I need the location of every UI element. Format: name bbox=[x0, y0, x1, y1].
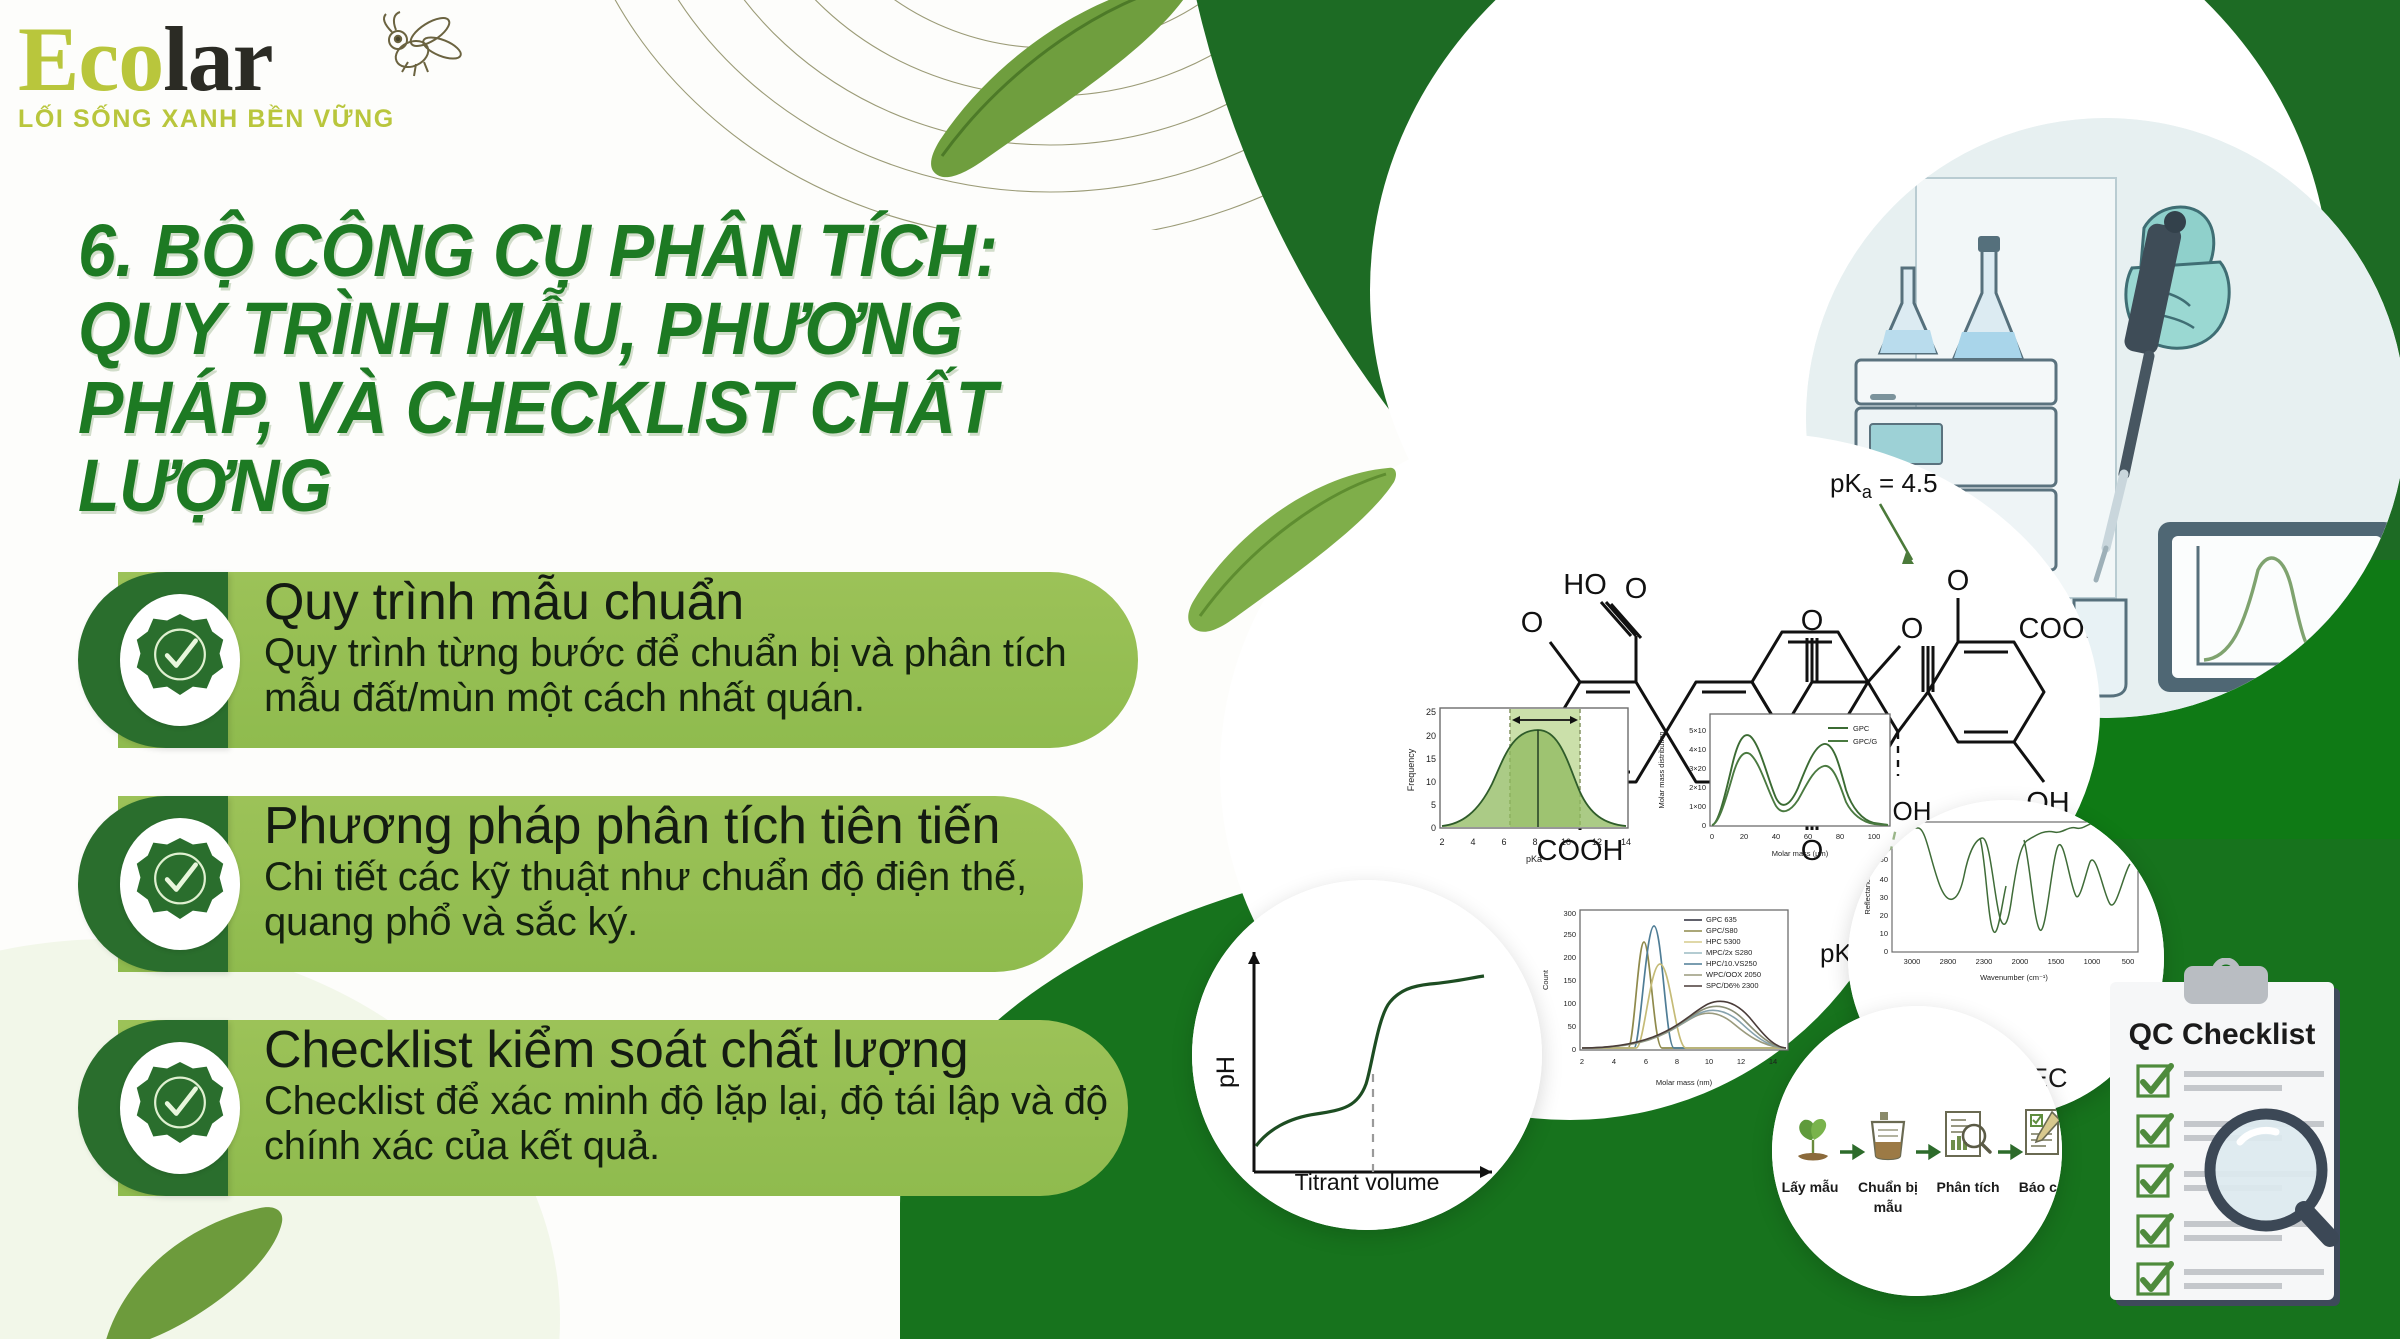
check-seal-icon bbox=[134, 610, 226, 710]
svg-text:20: 20 bbox=[1880, 911, 1888, 920]
card-badge-ring bbox=[120, 1042, 240, 1174]
svg-text:MPC/2x S280: MPC/2x S280 bbox=[1706, 948, 1752, 957]
feature-card[interactable]: Checklist kiểm soát chất lượng Checklist… bbox=[78, 1020, 1228, 1210]
svg-text:8: 8 bbox=[1532, 837, 1537, 847]
feature-card[interactable]: Quy trình mẫu chuẩn Quy trình từng bước … bbox=[78, 572, 1228, 762]
svg-text:12: 12 bbox=[1592, 837, 1602, 847]
card-description: Quy trình từng bước để chuẩn bị và phân … bbox=[264, 631, 1144, 721]
infographic-canvas: Ecolar LỐI SỐNG XANH BỀN VỮNG 6. BỘ CÔNG… bbox=[0, 0, 2400, 1339]
count-vs-molar-mass-chart: 050100 150200250300 246 8101214 Molar ma… bbox=[1534, 902, 1834, 1110]
svg-text:250: 250 bbox=[1563, 930, 1576, 939]
page-title: 6. BỘ CÔNG CỤ PHÂN TÍCH: QUY TRÌNH MẪU, … bbox=[78, 212, 1118, 526]
leaf-decor-top bbox=[880, 0, 1200, 190]
svg-text:2×10: 2×10 bbox=[1689, 783, 1706, 792]
card-title: Checklist kiểm soát chất lượng bbox=[264, 1024, 1144, 1077]
svg-text:10: 10 bbox=[1561, 837, 1571, 847]
svg-text:200: 200 bbox=[1563, 953, 1576, 962]
svg-text:HO: HO bbox=[1563, 569, 1607, 601]
qc-checklist-clipboard: QC Checklist bbox=[2098, 958, 2366, 1318]
svg-text:0: 0 bbox=[1710, 832, 1714, 841]
svg-text:Molar mass distribution: Molar mass distribution bbox=[1657, 731, 1666, 808]
svg-text:GPC 635: GPC 635 bbox=[1706, 915, 1737, 924]
logo-word-eco: Eco bbox=[18, 8, 163, 110]
svg-text:2: 2 bbox=[1580, 1057, 1584, 1066]
card-description: Chi tiết các kỹ thuật như chuẩn độ điện … bbox=[264, 855, 1144, 945]
svg-text:2: 2 bbox=[1439, 837, 1444, 847]
feature-card[interactable]: Phương pháp phân tích tiên tiến Chi tiết… bbox=[78, 796, 1228, 986]
svg-text:WPC/OOX 2050: WPC/OOX 2050 bbox=[1706, 970, 1761, 979]
svg-text:10: 10 bbox=[1426, 777, 1436, 787]
svg-text:Frequency: Frequency bbox=[1406, 748, 1416, 791]
svg-text:1×00: 1×00 bbox=[1689, 802, 1706, 811]
svg-text:30: 30 bbox=[1880, 893, 1888, 902]
svg-text:O: O bbox=[1521, 607, 1544, 639]
titration-x-axis-label: Titrant volume bbox=[1192, 1169, 1542, 1196]
svg-text:3000: 3000 bbox=[1904, 957, 1921, 966]
check-seal-icon bbox=[134, 834, 226, 934]
svg-text:100: 100 bbox=[1563, 999, 1576, 1008]
svg-text:Reflectance (%): Reflectance (%) bbox=[1863, 861, 1872, 915]
svg-text:15: 15 bbox=[1426, 754, 1436, 764]
svg-text:120: 120 bbox=[1875, 821, 1888, 830]
svg-text:14: 14 bbox=[1621, 837, 1631, 847]
svg-text:Molar mass (nm): Molar mass (nm) bbox=[1656, 1078, 1713, 1087]
svg-text:10: 10 bbox=[1705, 1057, 1713, 1066]
svg-text:SPC/D6% 2300: SPC/D6% 2300 bbox=[1706, 981, 1759, 990]
svg-text:pH: pH bbox=[1212, 1056, 1240, 1088]
svg-text:40: 40 bbox=[1880, 875, 1888, 884]
svg-text:5: 5 bbox=[1431, 800, 1436, 810]
svg-text:0: 0 bbox=[1702, 821, 1706, 830]
svg-text:O: O bbox=[1947, 565, 1970, 597]
svg-text:40: 40 bbox=[1772, 832, 1780, 841]
svg-text:80: 80 bbox=[1836, 832, 1844, 841]
svg-text:HPC/10.VS250: HPC/10.VS250 bbox=[1706, 959, 1757, 968]
svg-text:pKa: pKa bbox=[1526, 854, 1542, 864]
svg-text:4: 4 bbox=[1470, 837, 1475, 847]
svg-text:QC Checklist: QC Checklist bbox=[2129, 1018, 2316, 1051]
svg-text:50: 50 bbox=[1568, 1022, 1576, 1031]
svg-text:300: 300 bbox=[1563, 909, 1576, 918]
svg-text:O: O bbox=[1901, 613, 1924, 645]
card-badge-ring bbox=[120, 818, 240, 950]
svg-text:Chuẩn bị: Chuẩn bị bbox=[1858, 1179, 1918, 1195]
card-text-block: Quy trình mẫu chuẩn Quy trình từng bước … bbox=[264, 572, 1144, 721]
card-badge-ring bbox=[120, 594, 240, 726]
card-title: Quy trình mẫu chuẩn bbox=[264, 576, 1144, 629]
svg-text:2000: 2000 bbox=[2012, 957, 2029, 966]
bee-icon bbox=[370, 2, 480, 92]
svg-text:2300: 2300 bbox=[1976, 957, 1993, 966]
card-text-block: Checklist kiểm soát chất lượng Checklist… bbox=[264, 1020, 1144, 1169]
card-description: Checklist để xác minh độ lặp lại, độ tái… bbox=[264, 1079, 1144, 1169]
svg-text:8: 8 bbox=[1675, 1057, 1679, 1066]
svg-text:mẫu: mẫu bbox=[1874, 1199, 1903, 1215]
svg-text:5×10: 5×10 bbox=[1689, 726, 1706, 735]
svg-text:Count: Count bbox=[1541, 969, 1550, 990]
svg-text:14: 14 bbox=[1769, 1057, 1777, 1066]
svg-text:150: 150 bbox=[1563, 976, 1576, 985]
svg-text:6: 6 bbox=[1644, 1057, 1648, 1066]
logo-tagline: LỐI SỐNG XANH BỀN VỮNG bbox=[18, 105, 448, 134]
svg-text:Molar mass (µm): Molar mass (µm) bbox=[1772, 849, 1829, 858]
svg-text:20: 20 bbox=[1740, 832, 1748, 841]
sample-workflow: Lấy mẫu Chuẩn bị mẫu bbox=[1772, 1006, 2062, 1296]
svg-text:GPC/S80: GPC/S80 bbox=[1706, 926, 1738, 935]
svg-text:60: 60 bbox=[1804, 832, 1812, 841]
check-seal-icon bbox=[134, 1058, 226, 1158]
svg-text:2800: 2800 bbox=[1940, 957, 1957, 966]
pka-frequency-distribution-chart: 0510 152025 246 8101214 pKa Frequency bbox=[1400, 700, 1640, 880]
svg-text:GPC: GPC bbox=[1853, 724, 1870, 733]
svg-text:3×20: 3×20 bbox=[1689, 764, 1706, 773]
svg-text:12: 12 bbox=[1737, 1057, 1745, 1066]
svg-text:Phân tích: Phân tích bbox=[1936, 1179, 1999, 1195]
svg-text:O: O bbox=[1625, 573, 1648, 605]
svg-text:6: 6 bbox=[1501, 837, 1506, 847]
card-text-block: Phương pháp phân tích tiên tiến Chi tiết… bbox=[264, 796, 1144, 945]
svg-text:0: 0 bbox=[1884, 947, 1888, 956]
feature-card-list: Quy trình mẫu chuẩn Quy trình từng bước … bbox=[78, 572, 1228, 1244]
logo-word-lar: lar bbox=[163, 8, 272, 110]
svg-text:4×10: 4×10 bbox=[1689, 745, 1706, 754]
card-title: Phương pháp phân tích tiên tiến bbox=[264, 800, 1144, 853]
svg-text:Lấy mẫu: Lấy mẫu bbox=[1782, 1179, 1839, 1195]
svg-text:pKa = 4.5: pKa = 4.5 bbox=[1830, 468, 1938, 502]
svg-text:50: 50 bbox=[1880, 855, 1888, 864]
svg-text:1500: 1500 bbox=[2048, 957, 2065, 966]
svg-text:GPC/G: GPC/G bbox=[1853, 737, 1877, 746]
svg-text:0: 0 bbox=[1431, 823, 1436, 833]
svg-text:25: 25 bbox=[1426, 707, 1436, 717]
svg-text:4: 4 bbox=[1612, 1057, 1616, 1066]
svg-text:20: 20 bbox=[1426, 731, 1436, 741]
svg-text:O: O bbox=[1801, 605, 1824, 637]
svg-text:10: 10 bbox=[1880, 929, 1888, 938]
ph-titration-chart: pH Titrant volume bbox=[1192, 880, 1542, 1230]
svg-text:Wavenumber (cm⁻¹): Wavenumber (cm⁻¹) bbox=[1980, 973, 2048, 982]
svg-text:Báo cáo: Báo cáo bbox=[2019, 1179, 2062, 1195]
svg-text:0: 0 bbox=[1572, 1045, 1576, 1054]
svg-text:HPC 5300: HPC 5300 bbox=[1706, 937, 1741, 946]
